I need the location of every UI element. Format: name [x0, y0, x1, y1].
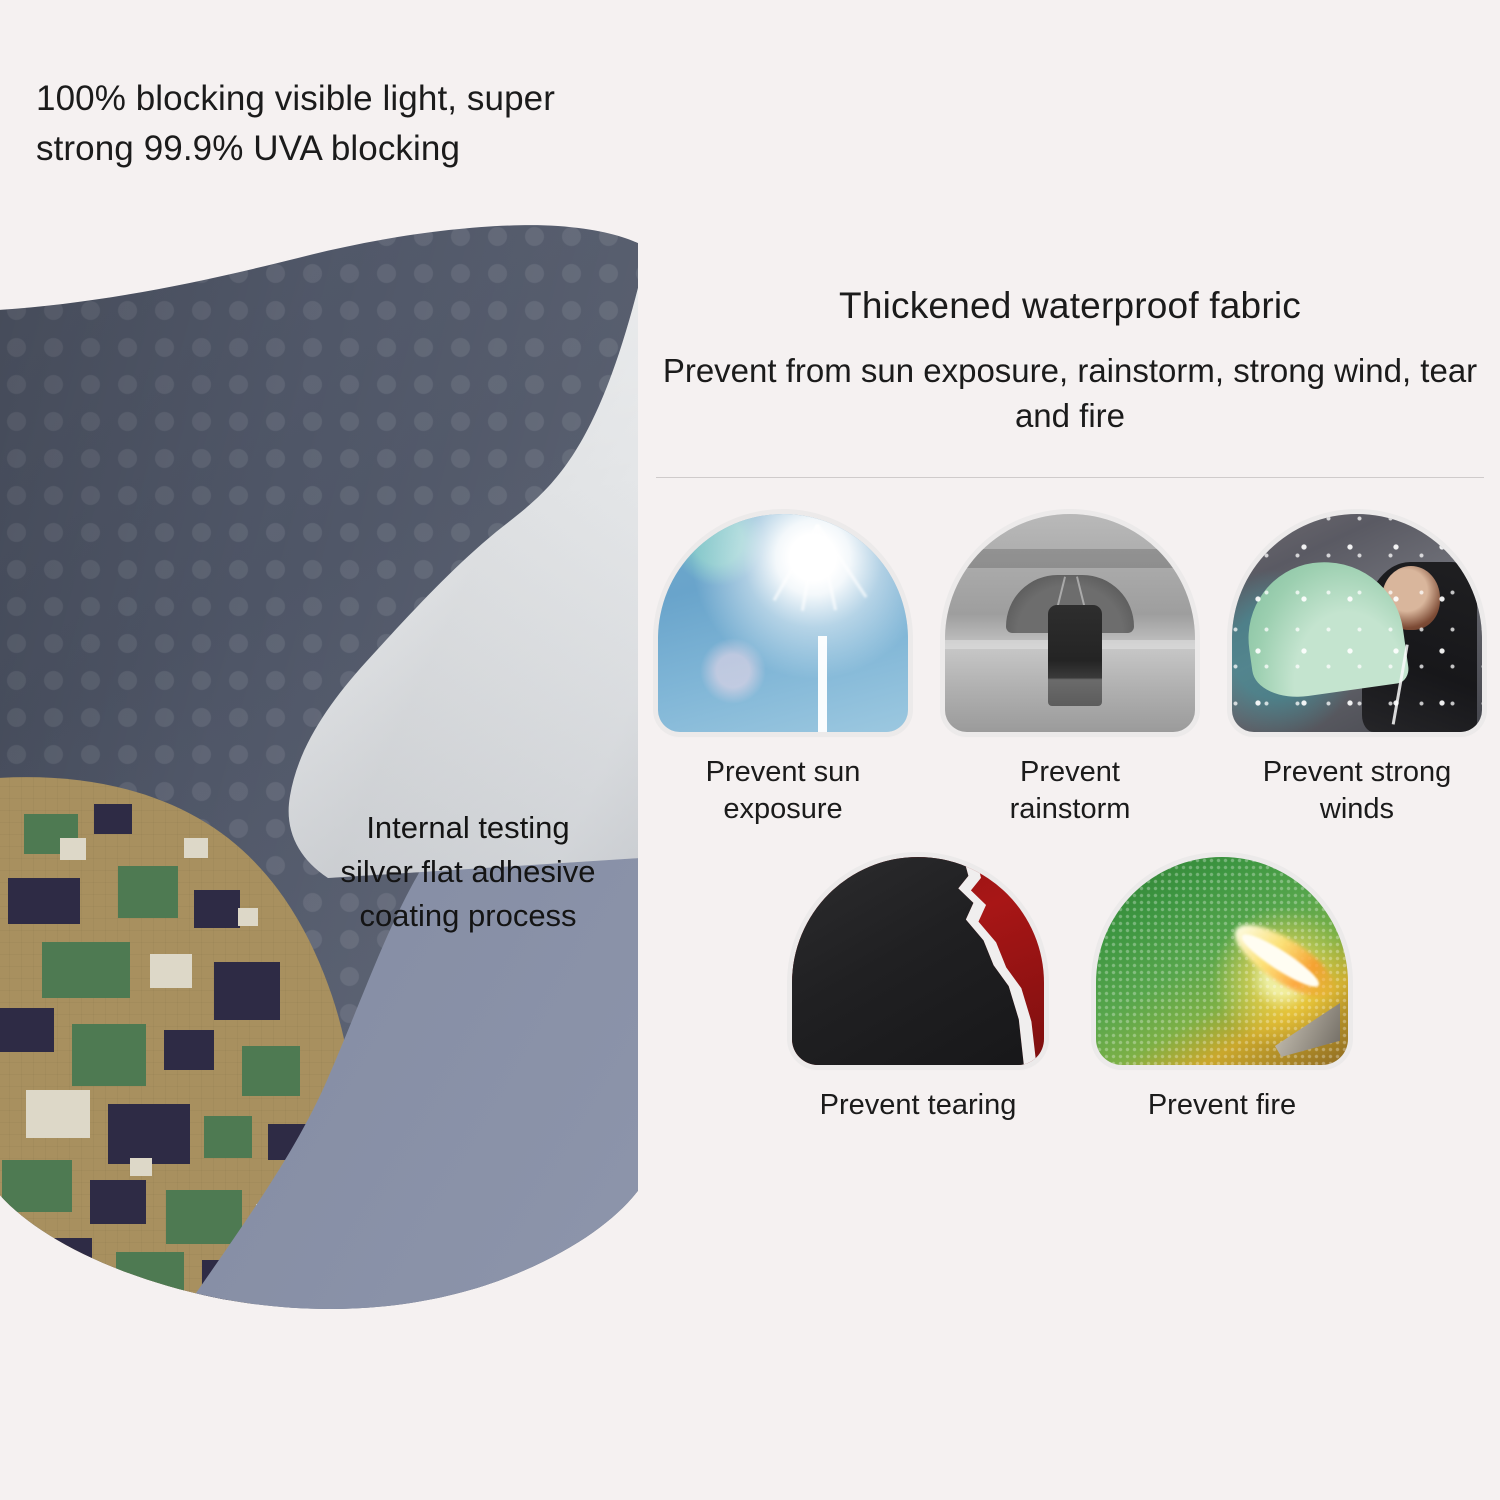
feature-caption: Prevent tearing — [820, 1087, 1017, 1125]
feature-card-tearing: Prevent tearing — [792, 857, 1044, 1125]
page-title: 100% blocking visible light, super stron… — [36, 74, 636, 173]
flame-on-fabric-icon — [1096, 857, 1348, 1065]
feature-caption: Prevent fire — [1148, 1087, 1296, 1125]
rainstorm-photo-thumbnail — [945, 514, 1195, 732]
feature-caption: Prevent rainstorm — [1010, 754, 1131, 829]
sunny-sky-icon — [658, 514, 908, 732]
fire-photo-thumbnail — [1096, 857, 1348, 1065]
tearing-photo-thumbnail — [792, 857, 1044, 1065]
section-title: Thickened waterproof fabric — [650, 285, 1490, 327]
product-fabric-panel — [0, 218, 638, 1338]
feature-caption: Prevent strong winds — [1263, 754, 1452, 829]
waterproof-feature-section: Thickened waterproof fabric Prevent from… — [650, 285, 1490, 1125]
feature-card-strong-winds: Prevent strong winds — [1232, 514, 1482, 829]
feature-card-rainstorm: Prevent rainstorm — [945, 514, 1195, 829]
feature-row-bottom: Prevent tearing Prevent fire — [650, 857, 1490, 1125]
feature-card-fire: Prevent fire — [1096, 857, 1348, 1125]
section-divider — [656, 477, 1484, 478]
feature-row-top: Prevent sun exposure Prevent rainstorm — [650, 514, 1490, 829]
rain-scene-icon — [945, 514, 1195, 732]
windy-storm-scene-icon — [1232, 514, 1482, 732]
strong-winds-photo-thumbnail — [1232, 514, 1482, 732]
torn-fabric-icon — [792, 857, 1044, 1065]
feature-caption: Prevent sun exposure — [706, 754, 861, 829]
feature-card-sun-exposure: Prevent sun exposure — [658, 514, 908, 829]
section-subtitle: Prevent from sun exposure, rainstorm, st… — [650, 349, 1490, 439]
sun-photo-thumbnail — [658, 514, 908, 732]
fabric-panel-caption: Internal testing silver flat adhesive co… — [302, 806, 634, 938]
